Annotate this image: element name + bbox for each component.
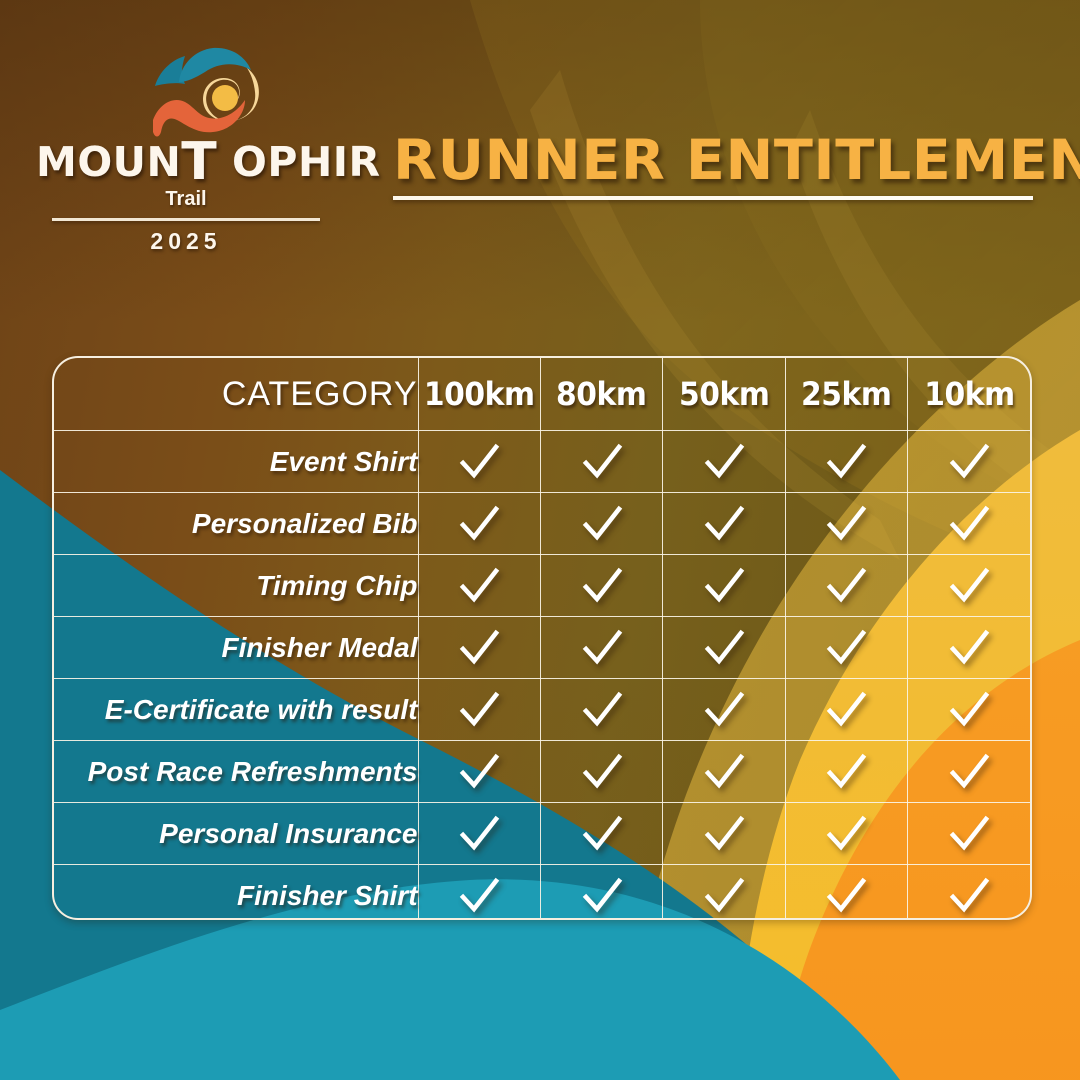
cell-10km bbox=[908, 803, 1030, 865]
cell-80km bbox=[540, 679, 662, 741]
column-header-100km: 100km bbox=[422, 358, 536, 431]
check-icon bbox=[579, 501, 625, 547]
cell-100km bbox=[418, 865, 540, 921]
check-icon bbox=[946, 749, 992, 795]
column-header-25km: 25km bbox=[789, 358, 903, 431]
cell-50km bbox=[663, 679, 785, 741]
cell-100km bbox=[418, 493, 540, 555]
title-underline bbox=[393, 196, 1033, 200]
check-icon bbox=[579, 563, 625, 609]
check-icon bbox=[701, 749, 747, 795]
cell-80km bbox=[540, 617, 662, 679]
table-row: Event Shirt bbox=[54, 431, 1030, 493]
cell-10km bbox=[908, 617, 1030, 679]
cell-10km bbox=[908, 555, 1030, 617]
poster-header: MOUNT OPHIR Trail 2025 RUNNER ENTITLEMEN… bbox=[0, 0, 1080, 240]
cell-80km bbox=[540, 803, 662, 865]
cell-50km bbox=[663, 493, 785, 555]
cell-10km bbox=[908, 431, 1030, 493]
cell-25km bbox=[785, 803, 907, 865]
check-icon bbox=[701, 625, 747, 671]
cell-80km bbox=[540, 865, 662, 921]
table-row: Finisher Medal bbox=[54, 617, 1030, 679]
column-header-10km: 10km bbox=[912, 358, 1026, 431]
check-icon bbox=[701, 687, 747, 733]
check-icon bbox=[946, 625, 992, 671]
brand-subtitle: Trail bbox=[36, 188, 336, 211]
check-icon bbox=[823, 873, 869, 919]
cell-25km bbox=[785, 679, 907, 741]
check-icon bbox=[823, 749, 869, 795]
column-header-category: CATEGORY bbox=[54, 358, 418, 431]
check-icon bbox=[701, 563, 747, 609]
check-icon bbox=[823, 563, 869, 609]
poster-root: MOUNT OPHIR Trail 2025 RUNNER ENTITLEMEN… bbox=[0, 0, 1080, 1080]
check-icon bbox=[456, 811, 502, 857]
column-header-50km: 50km bbox=[667, 358, 781, 431]
cell-50km bbox=[663, 865, 785, 921]
cell-10km bbox=[908, 865, 1030, 921]
column-header-80km: 80km bbox=[545, 358, 659, 431]
check-icon bbox=[946, 501, 992, 547]
table-header-row: CATEGORY 100km 80km 50km 25km 10km bbox=[54, 358, 1030, 431]
cell-25km bbox=[785, 493, 907, 555]
cell-25km bbox=[785, 555, 907, 617]
check-icon bbox=[823, 811, 869, 857]
cell-100km bbox=[418, 741, 540, 803]
table-body: Event ShirtPersonalized BibTiming ChipFi… bbox=[54, 431, 1030, 921]
cell-80km bbox=[540, 741, 662, 803]
check-icon bbox=[701, 873, 747, 919]
check-icon bbox=[946, 873, 992, 919]
cell-25km bbox=[785, 741, 907, 803]
cell-50km bbox=[663, 431, 785, 493]
cell-100km bbox=[418, 555, 540, 617]
cell-100km bbox=[418, 431, 540, 493]
row-label: Post Race Refreshments bbox=[54, 741, 418, 803]
table-row: Timing Chip bbox=[54, 555, 1030, 617]
brand-logo: MOUNT OPHIR Trail 2025 bbox=[36, 42, 336, 232]
cell-10km bbox=[908, 741, 1030, 803]
cell-25km bbox=[785, 431, 907, 493]
mount-ophir-logo-icon bbox=[141, 42, 271, 142]
check-icon bbox=[701, 439, 747, 485]
cell-80km bbox=[540, 555, 662, 617]
check-icon bbox=[823, 501, 869, 547]
row-label: E-Certificate with result bbox=[54, 679, 418, 741]
row-label: Finisher Medal bbox=[54, 617, 418, 679]
check-icon bbox=[456, 873, 502, 919]
check-icon bbox=[456, 625, 502, 671]
check-icon bbox=[823, 439, 869, 485]
table-row: Post Race Refreshments bbox=[54, 741, 1030, 803]
cell-100km bbox=[418, 803, 540, 865]
cell-100km bbox=[418, 679, 540, 741]
cell-80km bbox=[540, 493, 662, 555]
check-icon bbox=[946, 811, 992, 857]
cell-100km bbox=[418, 617, 540, 679]
check-icon bbox=[823, 687, 869, 733]
row-label: Event Shirt bbox=[54, 431, 418, 493]
cell-25km bbox=[785, 865, 907, 921]
check-icon bbox=[456, 749, 502, 795]
check-icon bbox=[946, 563, 992, 609]
check-icon bbox=[456, 439, 502, 485]
brand-wordmark: MOUNT OPHIR bbox=[36, 138, 336, 186]
check-icon bbox=[579, 625, 625, 671]
cell-50km bbox=[663, 555, 785, 617]
cell-10km bbox=[908, 493, 1030, 555]
check-icon bbox=[946, 687, 992, 733]
entitlements-table: CATEGORY 100km 80km 50km 25km 10km Event… bbox=[54, 358, 1030, 920]
check-icon bbox=[579, 687, 625, 733]
row-label: Personalized Bib bbox=[54, 493, 418, 555]
table-row: Finisher Shirt bbox=[54, 865, 1030, 921]
check-icon bbox=[946, 439, 992, 485]
table-row: Personal Insurance bbox=[54, 803, 1030, 865]
check-icon bbox=[579, 873, 625, 919]
cell-50km bbox=[663, 803, 785, 865]
table-row: Personalized Bib bbox=[54, 493, 1030, 555]
check-icon bbox=[456, 687, 502, 733]
cell-50km bbox=[663, 741, 785, 803]
table-row: E-Certificate with result bbox=[54, 679, 1030, 741]
check-icon bbox=[579, 811, 625, 857]
check-icon bbox=[823, 625, 869, 671]
row-label: Finisher Shirt bbox=[54, 865, 418, 921]
cell-25km bbox=[785, 617, 907, 679]
cell-10km bbox=[908, 679, 1030, 741]
check-icon bbox=[456, 563, 502, 609]
page-title: RUNNER ENTITLEMENTS bbox=[393, 128, 1059, 192]
cell-50km bbox=[663, 617, 785, 679]
brand-divider bbox=[52, 218, 320, 221]
row-label: Timing Chip bbox=[54, 555, 418, 617]
brand-year: 2025 bbox=[36, 228, 336, 255]
check-icon bbox=[456, 501, 502, 547]
check-icon bbox=[701, 501, 747, 547]
check-icon bbox=[579, 749, 625, 795]
check-icon bbox=[579, 439, 625, 485]
cell-80km bbox=[540, 431, 662, 493]
row-label: Personal Insurance bbox=[54, 803, 418, 865]
check-icon bbox=[701, 811, 747, 857]
entitlements-table-container: CATEGORY 100km 80km 50km 25km 10km Event… bbox=[52, 356, 1032, 920]
